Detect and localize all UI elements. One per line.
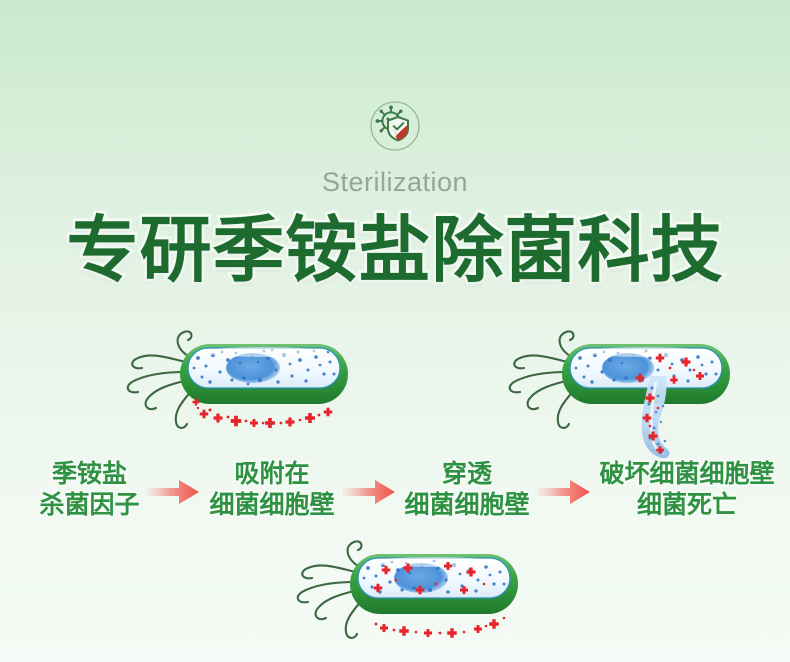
- flow-step-2: 吸附在 细菌细胞壁: [209, 459, 334, 521]
- page-title: 专研季铵盐除菌科技: [0, 206, 790, 296]
- bacterium-lysed-illustration: [500, 322, 740, 472]
- flow-step-3-line2: 细菌细胞壁: [405, 490, 530, 521]
- flow-step-1: 季铵盐 杀菌因子: [39, 459, 139, 521]
- flow-arrow-3-icon: [536, 477, 594, 507]
- germ-shield-icon: [0, 95, 790, 157]
- flow-step-2-line1: 吸附在: [209, 459, 334, 490]
- eyebrow-text: Sterilization: [0, 165, 790, 199]
- flow-step-4-line1: 破坏细菌细胞壁: [600, 459, 775, 490]
- flow-step-3-line1: 穿透: [405, 459, 530, 490]
- flow-step-3: 穿透 细菌细胞壁: [405, 459, 530, 521]
- sterilization-poster: Sterilization 专研季铵盐除菌科技: [0, 0, 790, 662]
- flow-step-4-line2: 细菌死亡: [600, 490, 775, 521]
- process-flow: 季铵盐 杀菌因子 吸附在 细菌细胞壁: [0, 452, 790, 528]
- bacterium-adsorbed-illustration: [118, 322, 358, 452]
- bacterium-penetrated-illustration: [288, 532, 528, 662]
- flow-step-1-line2: 杀菌因子: [39, 490, 139, 521]
- flow-step-2-line2: 细菌细胞壁: [209, 490, 334, 521]
- flow-arrow-2-icon: [341, 477, 399, 507]
- flow-step-1-line1: 季铵盐: [39, 459, 139, 490]
- flow-arrow-1-icon: [145, 477, 203, 507]
- flow-step-4: 破坏细菌细胞壁 细菌死亡: [600, 459, 775, 521]
- charge-cluster-outside: [375, 617, 506, 638]
